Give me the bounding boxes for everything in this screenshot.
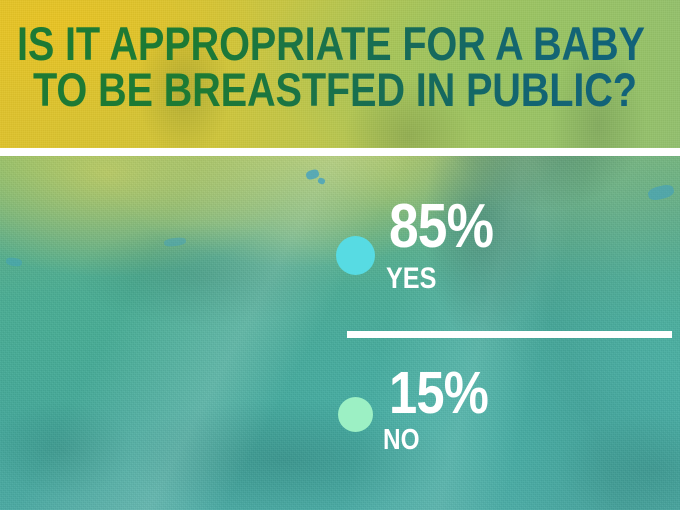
question-line-1: IS IT APPROPRIATE FOR A BABY <box>17 20 645 68</box>
result-no-label: NO <box>383 426 420 455</box>
bullet-dot-icon <box>336 236 375 275</box>
poll-infographic: IS IT APPROPRIATE FOR A BABY TO BE BREAS… <box>0 0 680 510</box>
question-line-2: TO BE BREASTFED IN PUBLIC? <box>33 66 637 114</box>
results-divider <box>347 331 672 338</box>
result-yes-label: YES <box>386 264 436 294</box>
header-band: IS IT APPROPRIATE FOR A BABY TO BE BREAS… <box>0 0 680 148</box>
result-no-value: 15% <box>389 364 488 423</box>
header-divider <box>0 148 680 156</box>
result-yes-value: 85% <box>389 196 493 258</box>
bullet-dot-icon <box>338 397 373 432</box>
